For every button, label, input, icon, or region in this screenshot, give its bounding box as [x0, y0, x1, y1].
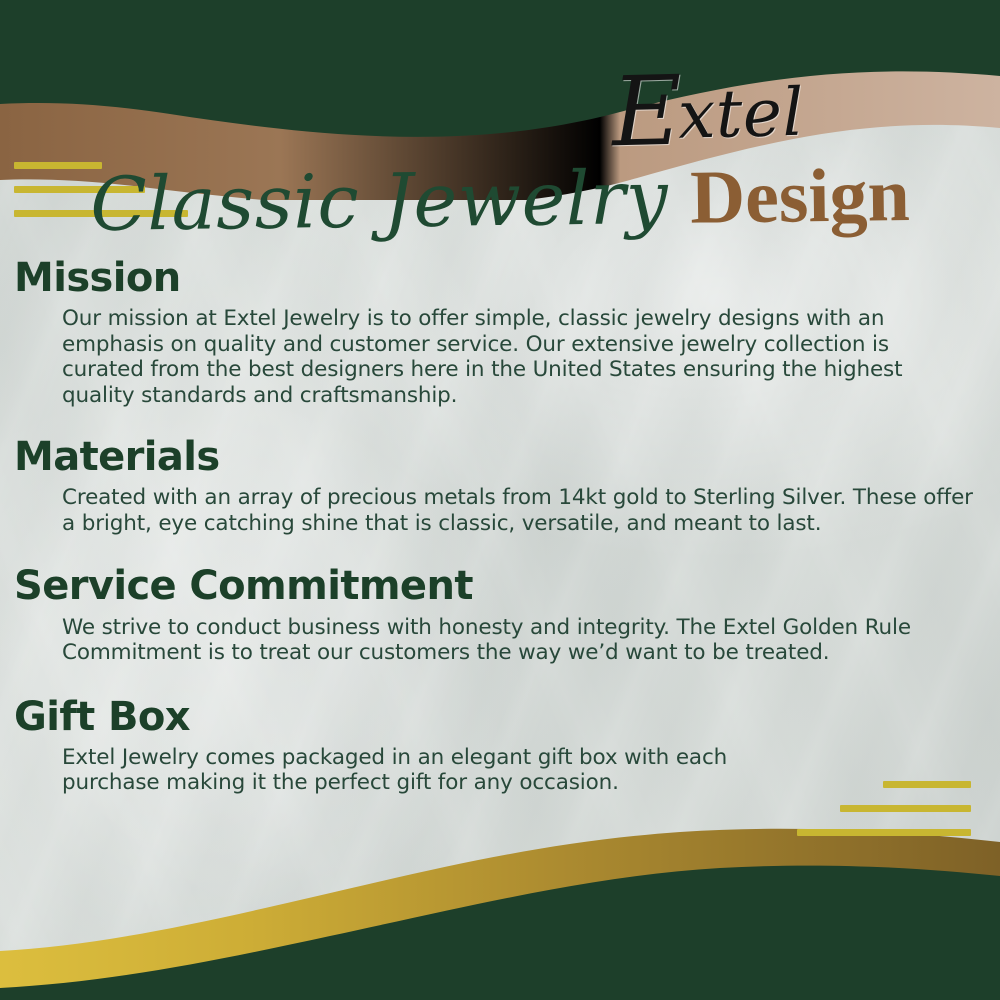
content-sections: Mission Our mission at Extel Jewelry is … — [0, 255, 1000, 799]
section-heading-materials: Materials — [14, 434, 1000, 481]
section-body-gift-box: Extel Jewelry comes packaged in an elega… — [62, 745, 750, 796]
section-heading-service-commitment: Service Commitment — [14, 563, 1000, 610]
section-service-commitment: Service Commitment We strive to conduct … — [0, 563, 1000, 665]
brand-logo-extel: Extel — [611, 69, 893, 160]
flyer-page: Extel Classic Jewelry Design Mission Our… — [0, 0, 1000, 1000]
page-title: Classic Jewelry Design — [0, 146, 1000, 254]
logo-rest: xtel — [677, 74, 805, 154]
section-mission: Mission Our mission at Extel Jewelry is … — [0, 255, 1000, 408]
page-title-script: Classic Jewelry — [90, 155, 669, 248]
page-title-serif: Design — [690, 151, 911, 241]
section-gift-box: Gift Box Extel Jewelry comes packaged in… — [0, 694, 1000, 796]
section-materials: Materials Created with an array of preci… — [0, 434, 1000, 536]
section-heading-mission: Mission — [14, 255, 1000, 302]
section-body-mission: Our mission at Extel Jewelry is to offer… — [62, 306, 976, 408]
gold-line-2 — [840, 805, 971, 812]
gold-line-3 — [797, 829, 971, 836]
section-heading-gift-box: Gift Box — [14, 694, 1000, 741]
section-body-materials: Created with an array of precious metals… — [62, 485, 976, 536]
section-body-service-commitment: We strive to conduct business with hones… — [62, 615, 976, 666]
